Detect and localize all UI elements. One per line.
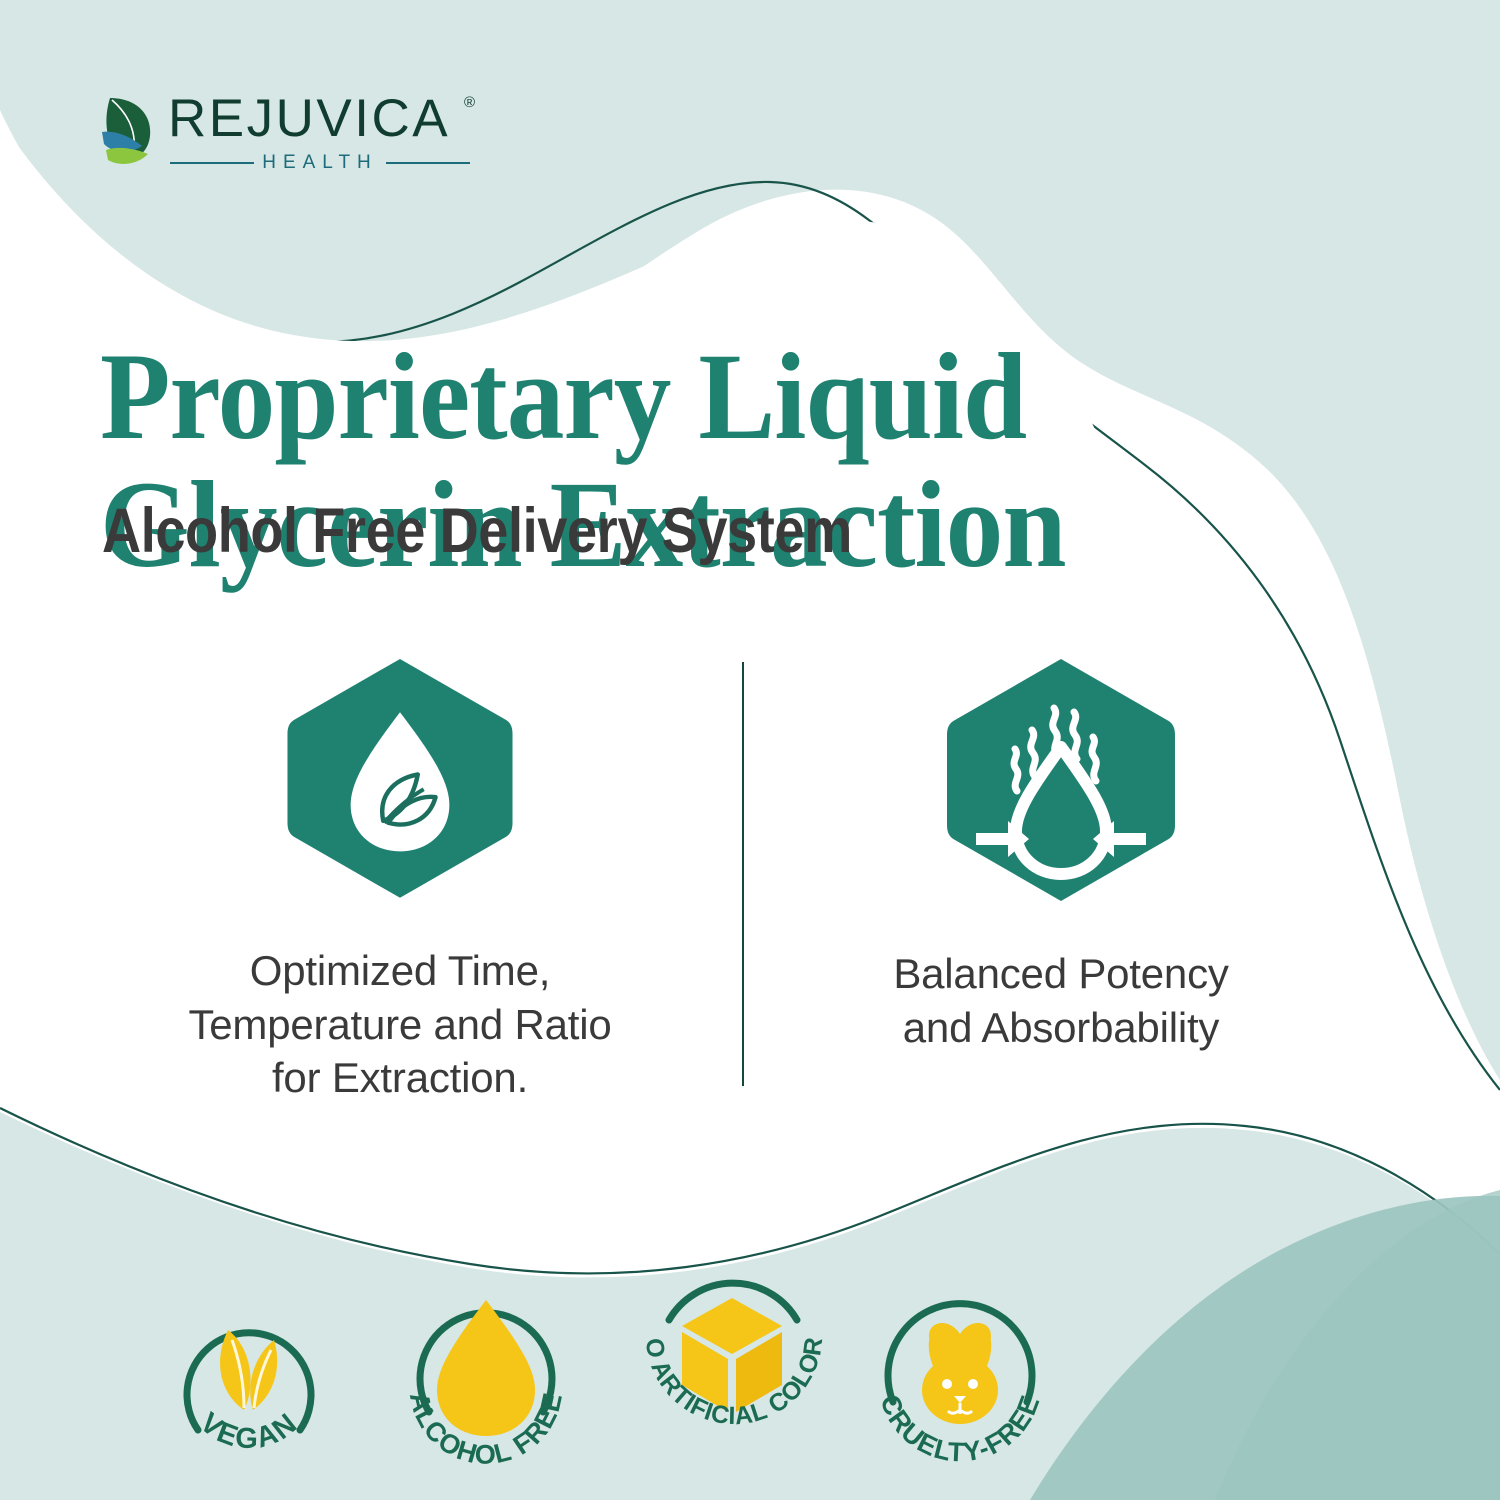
feature-item-extraction: Optimized Time, Temperature and Ratio fo… <box>80 655 742 1105</box>
feature-divider <box>742 662 744 1086</box>
certification-badges: VEGAN ALCOHOL FREE <box>140 1262 1090 1467</box>
feature-item-potency: Balanced Potency and Absorbability <box>742 655 1320 1105</box>
droplet-leaf-hexagon-icon <box>284 655 516 902</box>
feature-list: Optimized Time, Temperature and Ratio fo… <box>80 655 1320 1105</box>
feature-caption-line-3: for Extraction. <box>188 1051 611 1105</box>
badge-label-vegan: VEGAN <box>194 1407 305 1455</box>
logo-tagline-row: HEALTH <box>170 152 470 174</box>
leaf-logo-mark-icon <box>100 92 162 172</box>
feature-caption-line-1: Balanced Potency <box>893 947 1228 1001</box>
logo-wordmark: REJUVICA <box>168 92 450 145</box>
logo-tagline: HEALTH <box>262 152 378 174</box>
bunny-heart-icon <box>922 1323 998 1424</box>
feature-caption-line-1: Optimized Time, <box>188 944 611 998</box>
badge-cruelty-free: CRUELTY-FREE <box>851 1262 1088 1467</box>
badge-alcohol-free: ALCOHOL FREE <box>377 1262 614 1467</box>
two-leaves-icon <box>220 1330 277 1410</box>
feature-caption-potency: Balanced Potency and Absorbability <box>893 947 1228 1055</box>
badge-vegan: VEGAN <box>140 1262 377 1467</box>
badge-no-artificial-colors: NO ARTIFICIAL COLORS <box>614 1262 851 1467</box>
brand-logo[interactable]: REJUVICA ® HEALTH <box>100 86 480 178</box>
svg-text:VEGAN: VEGAN <box>194 1407 305 1455</box>
infographic-poster: REJUVICA ® HEALTH Proprietary Liquid Gly… <box>0 0 1500 1500</box>
logo-rule-right <box>386 162 470 164</box>
feature-caption-extraction: Optimized Time, Temperature and Ratio fo… <box>188 944 611 1105</box>
logo-rule-left <box>170 162 254 164</box>
registered-trademark-symbol: ® <box>464 94 475 111</box>
page-subtitle: Alcohol Free Delivery System <box>102 495 852 567</box>
headline-line-1: Proprietary Liquid <box>100 328 1026 465</box>
feature-caption-line-2: and Absorbability <box>893 1001 1228 1055</box>
feature-caption-line-2: Temperature and Ratio <box>188 998 611 1052</box>
droplet-heat-arrows-hexagon-icon <box>945 655 1177 905</box>
